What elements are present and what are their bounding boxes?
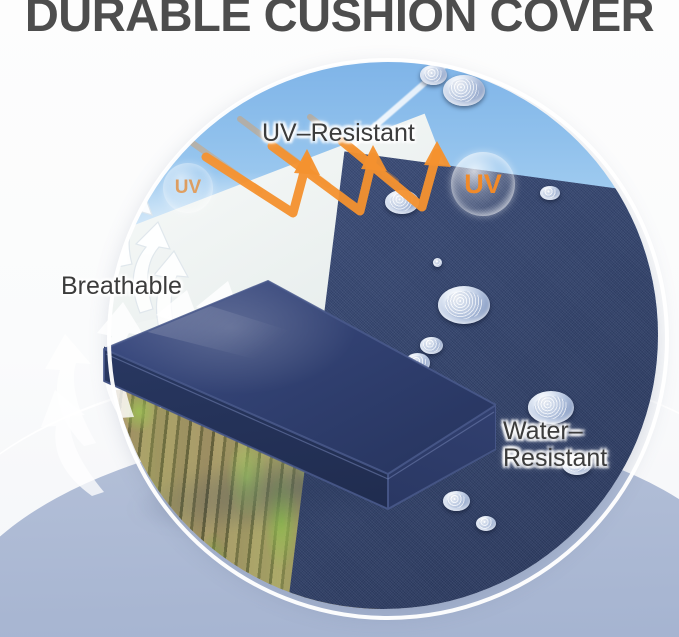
product-feature-image: DURABLE CUSHION COVER: [0, 0, 679, 637]
cushion-piping-icon: [96, 276, 496, 511]
label-water-resistant: Water– Resistant: [503, 418, 607, 471]
uv-badge-small: UV: [163, 163, 213, 213]
page-title: DURABLE CUSHION COVER: [0, 0, 679, 42]
uv-badge-large: UV: [451, 152, 515, 216]
uv-badge-small-label: UV: [175, 177, 201, 199]
label-uv-resistant: UV–Resistant: [262, 119, 415, 148]
uv-badge-large-label: UV: [464, 169, 502, 200]
cushion-product: [96, 276, 496, 511]
label-breathable: Breathable: [61, 272, 182, 301]
